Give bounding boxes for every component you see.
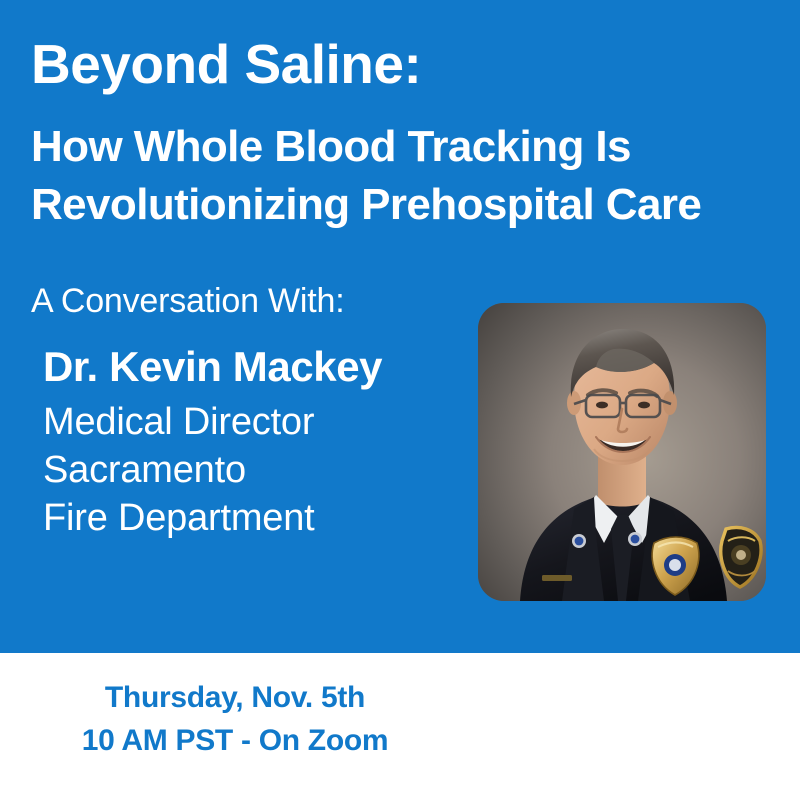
- hero-panel: Beyond Saline: How Whole Blood Tracking …: [0, 0, 800, 653]
- speaker-role-line: Medical Director: [43, 398, 461, 446]
- page-title: Beyond Saline:: [31, 34, 776, 96]
- headline-block: Beyond Saline: How Whole Blood Tracking …: [31, 34, 776, 234]
- footer-bar: Thursday, Nov. 5th 10 AM PST - On Zoom: [0, 653, 800, 800]
- speaker-role-line: Sacramento: [43, 446, 461, 494]
- event-details: Thursday, Nov. 5th 10 AM PST - On Zoom: [0, 677, 470, 762]
- speaker-name: Dr. Kevin Mackey: [43, 344, 461, 389]
- webinar-promo-poster: Beyond Saline: How Whole Blood Tracking …: [0, 0, 800, 800]
- subtitle-line-2: Revolutionizing Prehospital Care: [31, 176, 776, 234]
- event-time-platform: 10 AM PST - On Zoom: [0, 720, 470, 763]
- conversation-intro-label: A Conversation With:: [31, 283, 461, 320]
- speaker-role-list: Medical Director Sacramento Fire Departm…: [43, 398, 461, 543]
- subtitle-line-1: How Whole Blood Tracking Is: [31, 118, 776, 176]
- portrait-illustration: [478, 303, 766, 601]
- speaker-role-line: Fire Department: [43, 494, 461, 542]
- speaker-block: A Conversation With: Dr. Kevin Mackey Me…: [31, 283, 461, 543]
- page-subtitle: How Whole Blood Tracking Is Revolutioniz…: [31, 118, 776, 234]
- speaker-portrait-photo: [478, 303, 766, 601]
- event-date: Thursday, Nov. 5th: [0, 677, 470, 720]
